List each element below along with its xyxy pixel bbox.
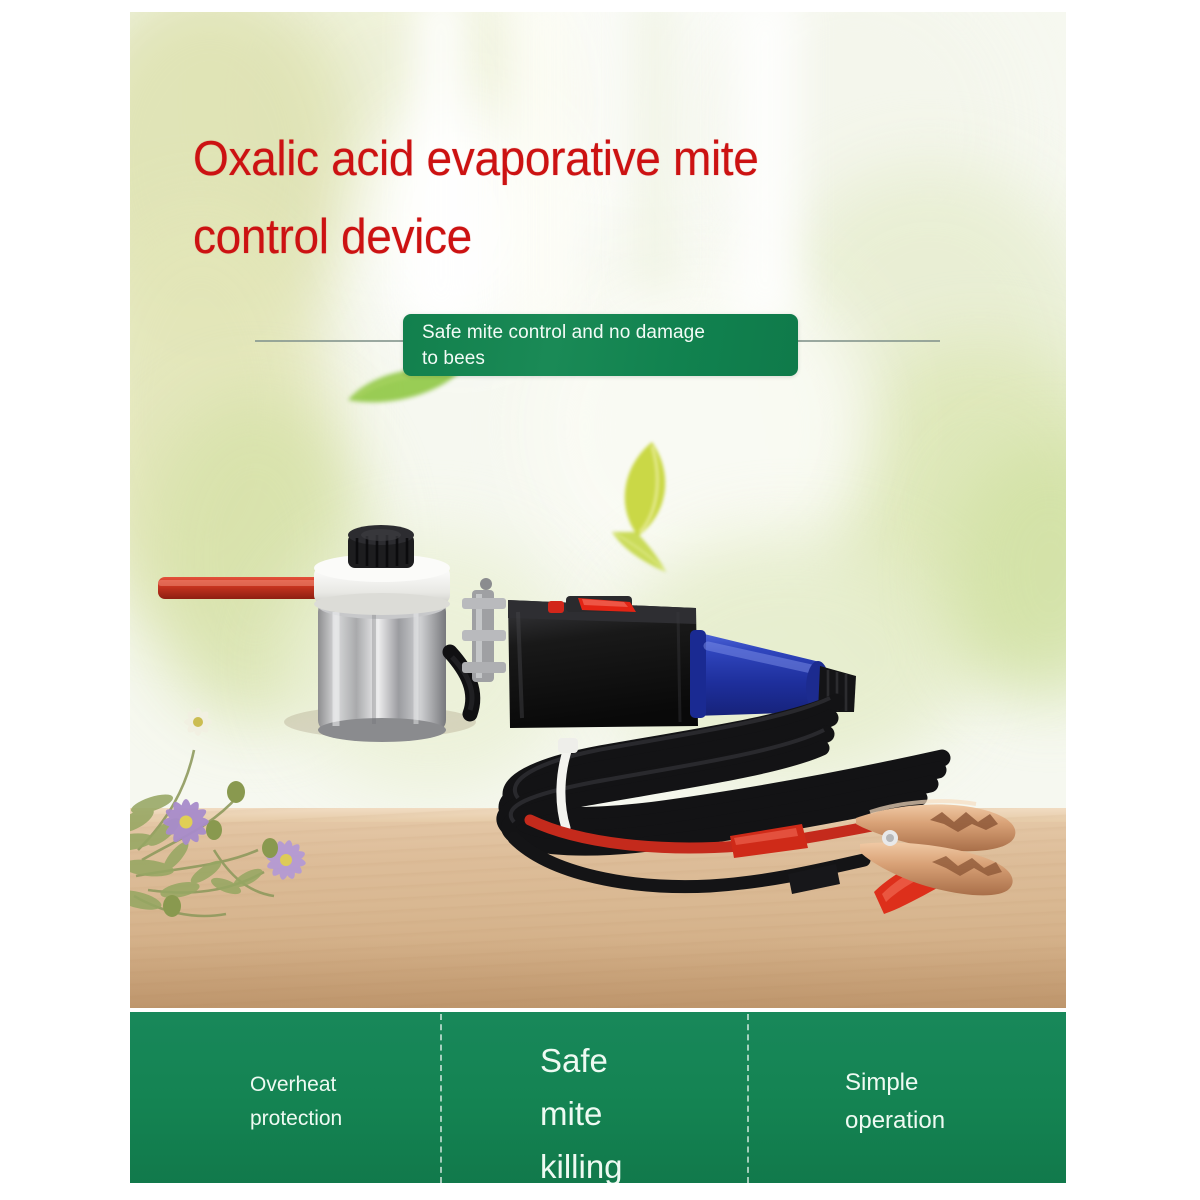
alligator-clamp bbox=[856, 801, 1015, 895]
knurled-knob bbox=[348, 525, 414, 568]
ribbon-rule-right bbox=[798, 340, 940, 342]
feature-overheat-protection: Overheat protection bbox=[250, 1068, 342, 1136]
subtitle-text: Safe mite control and no damage to bees bbox=[422, 320, 792, 372]
feature-divider bbox=[747, 1014, 749, 1183]
feature-bar: Overheat protection Safe mite killing Si… bbox=[130, 1010, 1066, 1183]
heater-rod bbox=[158, 577, 328, 599]
feature-divider bbox=[440, 1014, 442, 1183]
ribbon-rule-left bbox=[255, 340, 405, 342]
feature-simple-operation: Simple operation bbox=[845, 1064, 945, 1140]
page-title: Oxalic acid evaporative mite control dev… bbox=[193, 120, 964, 276]
acid-canister bbox=[318, 593, 446, 742]
feature-safe-mite-killing: Safe mite killing bbox=[540, 1034, 623, 1183]
power-switch bbox=[548, 596, 636, 613]
product-poster: Oxalic acid evaporative mite control dev… bbox=[130, 12, 1066, 1183]
subtitle-ribbon: Safe mite control and no damage to bees bbox=[403, 314, 798, 376]
device-housing bbox=[508, 600, 698, 728]
mounting-bracket bbox=[462, 578, 506, 682]
